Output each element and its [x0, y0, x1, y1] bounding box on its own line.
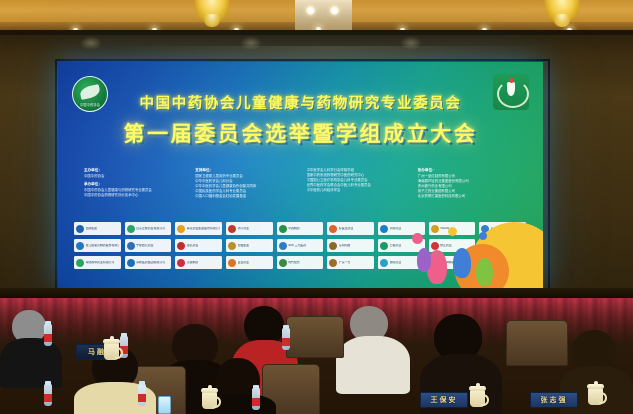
name-plate-text: 张志强 [541, 395, 568, 405]
sponsor-logo: 广东一力 [327, 256, 374, 269]
organizer-line: 中国中药协会药物研究评价技术中心 [84, 193, 188, 198]
sponsor-name: 999 三九医药 [288, 244, 306, 247]
sponsor-mark-icon [127, 225, 135, 233]
sponsor-mark-icon [76, 242, 84, 250]
sponsor-mark-icon [329, 225, 337, 233]
sponsor-logo: 湖北香琴药业有限公司 [74, 256, 121, 269]
water-bottle [138, 384, 146, 406]
chandelier-left [195, 0, 229, 28]
sponsor-mark-icon [127, 242, 135, 250]
decor-figure [417, 248, 431, 272]
sponsor-logo: 汉森制药 [175, 256, 222, 269]
sponsor-name: 济川药业 [238, 227, 250, 230]
sponsor-mark-icon [177, 225, 185, 233]
conference-hall-photo: 中国中药协会 中国中药协会儿童健康与药物研究专业委员会 第一届委员会选举暨学组成… [0, 0, 633, 414]
sponsor-name: 葵花药业集团股份有限公司 [187, 227, 220, 230]
led-screen: 中国中药协会 中国中药协会儿童健康与药物研究专业委员会 第一届委员会选举暨学组成… [58, 62, 543, 288]
banner-title-line1: 中国中药协会儿童健康与药物研究专业委员会 [58, 92, 543, 113]
sponsor-name: 广东一力 [339, 261, 351, 264]
sponsor-mark-icon [228, 242, 236, 250]
stage-edge [0, 288, 633, 298]
sponsor-logo: 葵花药业集团股份有限公司 [175, 222, 222, 235]
sponsor-logo: 济川药业 [226, 222, 273, 235]
sponsor-name: 宁夏启元药业 [136, 244, 153, 247]
water-bottle [252, 388, 260, 410]
projector-lens-right [330, 6, 339, 15]
water-bottle [44, 324, 52, 346]
smartphone [158, 396, 171, 414]
sponsor-mark-icon [380, 242, 388, 250]
sponsor-mark-icon [329, 259, 337, 267]
sponsor-mark-icon [228, 225, 236, 233]
sponsor-name: 湖北香琴药业有限公司 [86, 261, 115, 264]
sponsor-logo: 东阿阿胶 [327, 239, 374, 252]
sponsor-logo: 宁夏启元药业 [125, 239, 172, 252]
decor-figure [476, 258, 493, 286]
sponsor-name: 康弘药业 [187, 244, 199, 247]
sponsor-name: 青峰医药集团有限公司 [136, 261, 165, 264]
sponsor-logo: 时代阳光 [277, 256, 324, 269]
emblem-accent-dot [509, 78, 514, 83]
banner-title-line2: 第一届委员会选举暨学组成立大会 [58, 118, 543, 148]
sponsor-name: 华森制药 [288, 227, 300, 230]
sponsor-name: 太极集团 [238, 244, 250, 247]
sponsor-logo: 999 三九医药 [277, 239, 324, 252]
organizer-column: 支持单位：国家卫健委儿童用药专业委员会中华中医药学会儿科分会中华中医药学会儿童健… [195, 168, 299, 220]
organizer-heading: 支持单位： [195, 168, 299, 173]
organizer-line: 中国人口福利基金会妇幼发展基金 [195, 194, 299, 199]
water-bottle [44, 384, 52, 406]
sponsor-mark-icon [380, 225, 388, 233]
sponsor-mark-icon [127, 259, 135, 267]
sponsor-name: 时代阳光 [288, 261, 300, 264]
attendee-body [336, 336, 410, 394]
attendee-body [0, 338, 62, 388]
name-plate-text: 王保安 [431, 395, 458, 405]
sponsor-logo: 康弘药业 [175, 239, 222, 252]
sponsor-mark-icon [279, 242, 287, 250]
sponsor-mark-icon [177, 242, 185, 250]
audience-area: 马融 王保安 张志强 [0, 300, 633, 414]
organizer-heading: 主办单位： [84, 168, 188, 173]
sponsor-name: 好医生药业 [339, 227, 353, 230]
chandelier-right [545, 0, 579, 28]
tea-cup [470, 390, 485, 407]
chair [506, 320, 568, 366]
sponsor-name: 国药集团 [86, 227, 98, 230]
sponsor-name: 东阿阿胶 [339, 244, 351, 247]
sponsor-logo: 国药集团 [74, 222, 121, 235]
projector-housing [295, 0, 352, 32]
sponsor-name: 汉森制药 [187, 261, 199, 264]
sponsor-logo: 太极集团 [226, 239, 273, 252]
light-glow [80, 36, 102, 50]
decorative-children-graphic [393, 183, 543, 288]
water-bottle [282, 328, 290, 350]
tea-cup [104, 343, 119, 360]
chair [286, 316, 344, 358]
sponsor-logo: 好医生药业 [327, 222, 374, 235]
sponsor-logo: 青峰医药集团有限公司 [125, 256, 172, 269]
sponsor-logo: 浙江康恩贝制药股份有限公司 [74, 239, 121, 252]
sponsor-mark-icon [228, 259, 236, 267]
sponsor-name: 亚宝药业 [238, 261, 250, 264]
decor-dot [479, 232, 487, 240]
sponsor-logo: 山东立健药业有限公司 [125, 222, 172, 235]
sponsor-mark-icon [177, 259, 185, 267]
name-plate: 王保安 [420, 392, 468, 408]
tea-cup [588, 388, 603, 405]
projector-lens-left [306, 6, 315, 15]
sponsor-logo: 亚宝药业 [226, 256, 273, 269]
sponsor-name: 山东立健药业有限公司 [136, 227, 165, 230]
organizer-heading: 协办单位： [418, 168, 522, 173]
name-plate: 张志强 [530, 392, 578, 408]
organizer-line: 中国中药协会 [84, 174, 188, 179]
light-glow [240, 36, 262, 50]
sponsor-mark-icon [279, 225, 287, 233]
tea-cup [202, 392, 217, 409]
organizer-heading: 承办单位： [84, 182, 188, 187]
sponsor-name: 浙江康恩贝制药股份有限公司 [86, 244, 119, 247]
organizer-column: 主办单位：中国中药协会承办单位：中国中药协会儿童健康与药物研究专业委员会中国中药… [84, 168, 188, 220]
sponsor-mark-icon [329, 242, 337, 250]
sponsor-mark-icon [279, 259, 287, 267]
sponsor-mark-icon [76, 259, 84, 267]
decor-dot [448, 227, 457, 236]
decor-figure [453, 248, 471, 278]
light-glow [400, 36, 422, 50]
sponsor-mark-icon [76, 225, 84, 233]
wall-trim [0, 30, 633, 35]
sponsor-logo: 华森制药 [277, 222, 324, 235]
sponsor-mark-icon [380, 259, 388, 267]
decor-dot [412, 233, 423, 244]
